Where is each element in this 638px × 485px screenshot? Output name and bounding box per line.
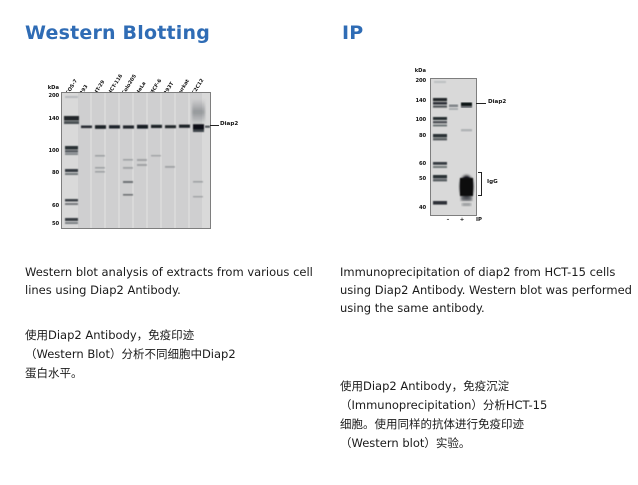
- western-caption-chinese: 使用Diap2 Antibody，免疫印迹 （Western Blot）分析不同…: [25, 326, 325, 383]
- wb-marker-100: 100: [37, 148, 59, 154]
- wb-band-annotation-diap2: Diap2: [220, 121, 238, 128]
- western-blotting-panel: Western Blotting kDa 200 140 100 80 60 5…: [0, 0, 330, 485]
- wb-blot-image: [61, 92, 211, 229]
- ip-band-annotation-igg: IgG: [487, 179, 498, 186]
- ip-kda-unit: kDa: [404, 68, 426, 74]
- ip-heading: IP: [342, 22, 363, 44]
- wb-diap2-leader-line: [210, 125, 219, 126]
- western-caption-english: Western blot analysis of extracts from v…: [25, 263, 325, 299]
- wb-marker-50: 50: [37, 221, 59, 227]
- wb-marker-200: 200: [37, 93, 59, 99]
- ip-marker-80: 80: [404, 133, 426, 139]
- wb-marker-80: 80: [37, 170, 59, 176]
- western-blot-figure: kDa 200 140 100 80 60 50 COS-7 293 HT-29…: [25, 60, 255, 225]
- ip-marker-100: 100: [404, 117, 426, 123]
- ip-panel: IP kDa 200 140 100 80 60 50 40: [330, 0, 638, 485]
- wb-blot-svg: [62, 93, 210, 228]
- ip-caption-chinese: 使用Diap2 Antibody，免疫沉淀 （Immunoprecipitati…: [340, 377, 632, 453]
- ip-blot-image: [430, 78, 477, 216]
- ip-caption-english: Immunoprecipitation of diap2 from HCT-15…: [340, 263, 632, 317]
- ip-marker-60: 60: [404, 161, 426, 167]
- ip-blot-svg: [431, 79, 476, 215]
- ip-band-annotation-diap2: Diap2: [488, 99, 506, 106]
- ip-lane-sign-plus: +: [457, 217, 467, 223]
- ip-marker-140: 140: [404, 98, 426, 104]
- ip-diap2-leader-line: [476, 103, 486, 104]
- ip-marker-50: 50: [404, 176, 426, 182]
- wb-marker-140: 140: [37, 116, 59, 122]
- western-blotting-heading: Western Blotting: [25, 22, 210, 44]
- wb-marker-60: 60: [37, 203, 59, 209]
- ip-igg-bracket: [478, 172, 482, 196]
- ip-blot-figure: kDa 200 140 100 80 60 50 40: [405, 60, 615, 225]
- ip-marker-40: 40: [404, 205, 426, 211]
- ip-lane-sign-minus: –: [443, 217, 453, 223]
- ip-marker-200: 200: [404, 78, 426, 84]
- wb-kda-unit: kDa: [37, 85, 59, 91]
- ip-lane-axis-label: IP: [476, 217, 488, 223]
